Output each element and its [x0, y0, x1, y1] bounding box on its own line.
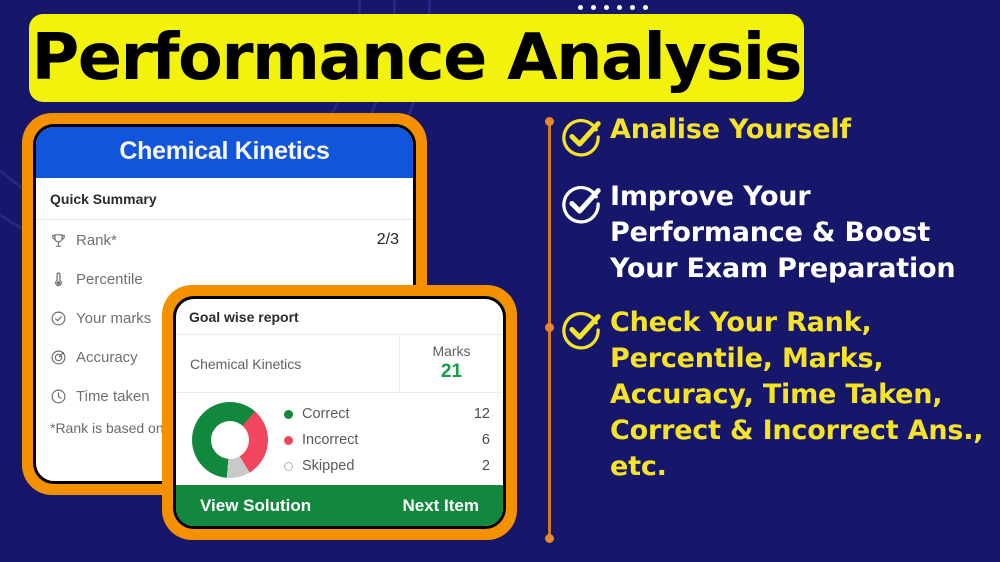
clock-icon — [50, 388, 76, 405]
summary-label: Rank* — [76, 232, 377, 249]
legend-value: 2 — [444, 458, 502, 474]
top-dot — [630, 5, 635, 10]
goal-report-topic: Chemical Kinetics — [176, 335, 399, 392]
top-dot — [578, 5, 583, 10]
trophy-icon — [50, 232, 76, 249]
list-item-label: Analise Yourself — [610, 112, 851, 148]
check-circle-icon — [560, 112, 610, 163]
target-icon — [50, 349, 76, 366]
list-item: Analise Yourself — [560, 112, 992, 163]
timeline-dot — [545, 117, 554, 126]
timeline-dot — [545, 534, 554, 543]
timeline-line — [548, 120, 551, 540]
legend-dot-skipped — [284, 462, 293, 471]
view-solution-button[interactable]: View Solution — [200, 496, 311, 516]
legend-value: 6 — [444, 432, 502, 448]
page-title: Performance Analysis — [32, 26, 801, 90]
legend-row-incorrect: Incorrect 6 — [284, 427, 502, 453]
legend-row-skipped: Skipped 2 — [284, 453, 502, 479]
top-dots-decoration — [578, 5, 648, 10]
check-circle-icon — [50, 310, 76, 327]
top-dot — [591, 5, 596, 10]
list-item-label: Improve Your Performance & Boost Your Ex… — [610, 179, 992, 287]
legend-dot-incorrect — [284, 436, 293, 445]
legend-label: Incorrect — [302, 432, 444, 448]
goal-report-table: Chemical Kinetics Marks 21 — [176, 334, 503, 393]
legend-dot-correct — [284, 410, 293, 419]
marks-value: 21 — [400, 361, 503, 383]
goal-report-heading: Goal wise report — [176, 299, 503, 334]
list-item: Check Your Rank, Percentile, Marks, Accu… — [560, 305, 992, 485]
donut-legend: Correct 12 Incorrect 6 Skipped 2 — [284, 401, 503, 479]
summary-value: 2/3 — [377, 231, 399, 249]
goal-report-footer: View Solution Next Item — [176, 485, 503, 528]
legend-label: Skipped — [302, 458, 444, 474]
check-circle-icon — [560, 305, 610, 356]
benefits-list: Analise Yourself Improve Your Performanc… — [560, 112, 992, 501]
thermometer-icon — [50, 271, 76, 288]
top-dot — [643, 5, 648, 10]
list-item-label: Check Your Rank, Percentile, Marks, Accu… — [610, 305, 992, 485]
legend-value: 12 — [444, 406, 502, 422]
timeline-dot — [545, 323, 554, 332]
quick-summary-heading: Quick Summary — [36, 178, 413, 220]
marks-label: Marks — [400, 343, 503, 359]
goal-wise-report-card: Goal wise report Chemical Kinetics Marks… — [162, 285, 517, 540]
list-item: Improve Your Performance & Boost Your Ex… — [560, 179, 992, 287]
legend-row-correct: Correct 12 — [284, 401, 502, 427]
top-dot — [604, 5, 609, 10]
donut-chart — [176, 401, 284, 479]
goal-report-marks: Marks 21 — [399, 335, 503, 392]
summary-row-rank[interactable]: Rank* 2/3 — [36, 220, 413, 260]
legend-label: Correct — [302, 406, 444, 422]
top-dot — [617, 5, 622, 10]
check-circle-icon — [560, 179, 610, 230]
next-item-button[interactable]: Next Item — [402, 496, 479, 516]
page-title-banner: Performance Analysis — [29, 14, 804, 102]
card-app-title: Chemical Kinetics — [36, 127, 413, 178]
poster-canvas: Performance Analysis Chemical Kinetics Q… — [0, 0, 1000, 562]
